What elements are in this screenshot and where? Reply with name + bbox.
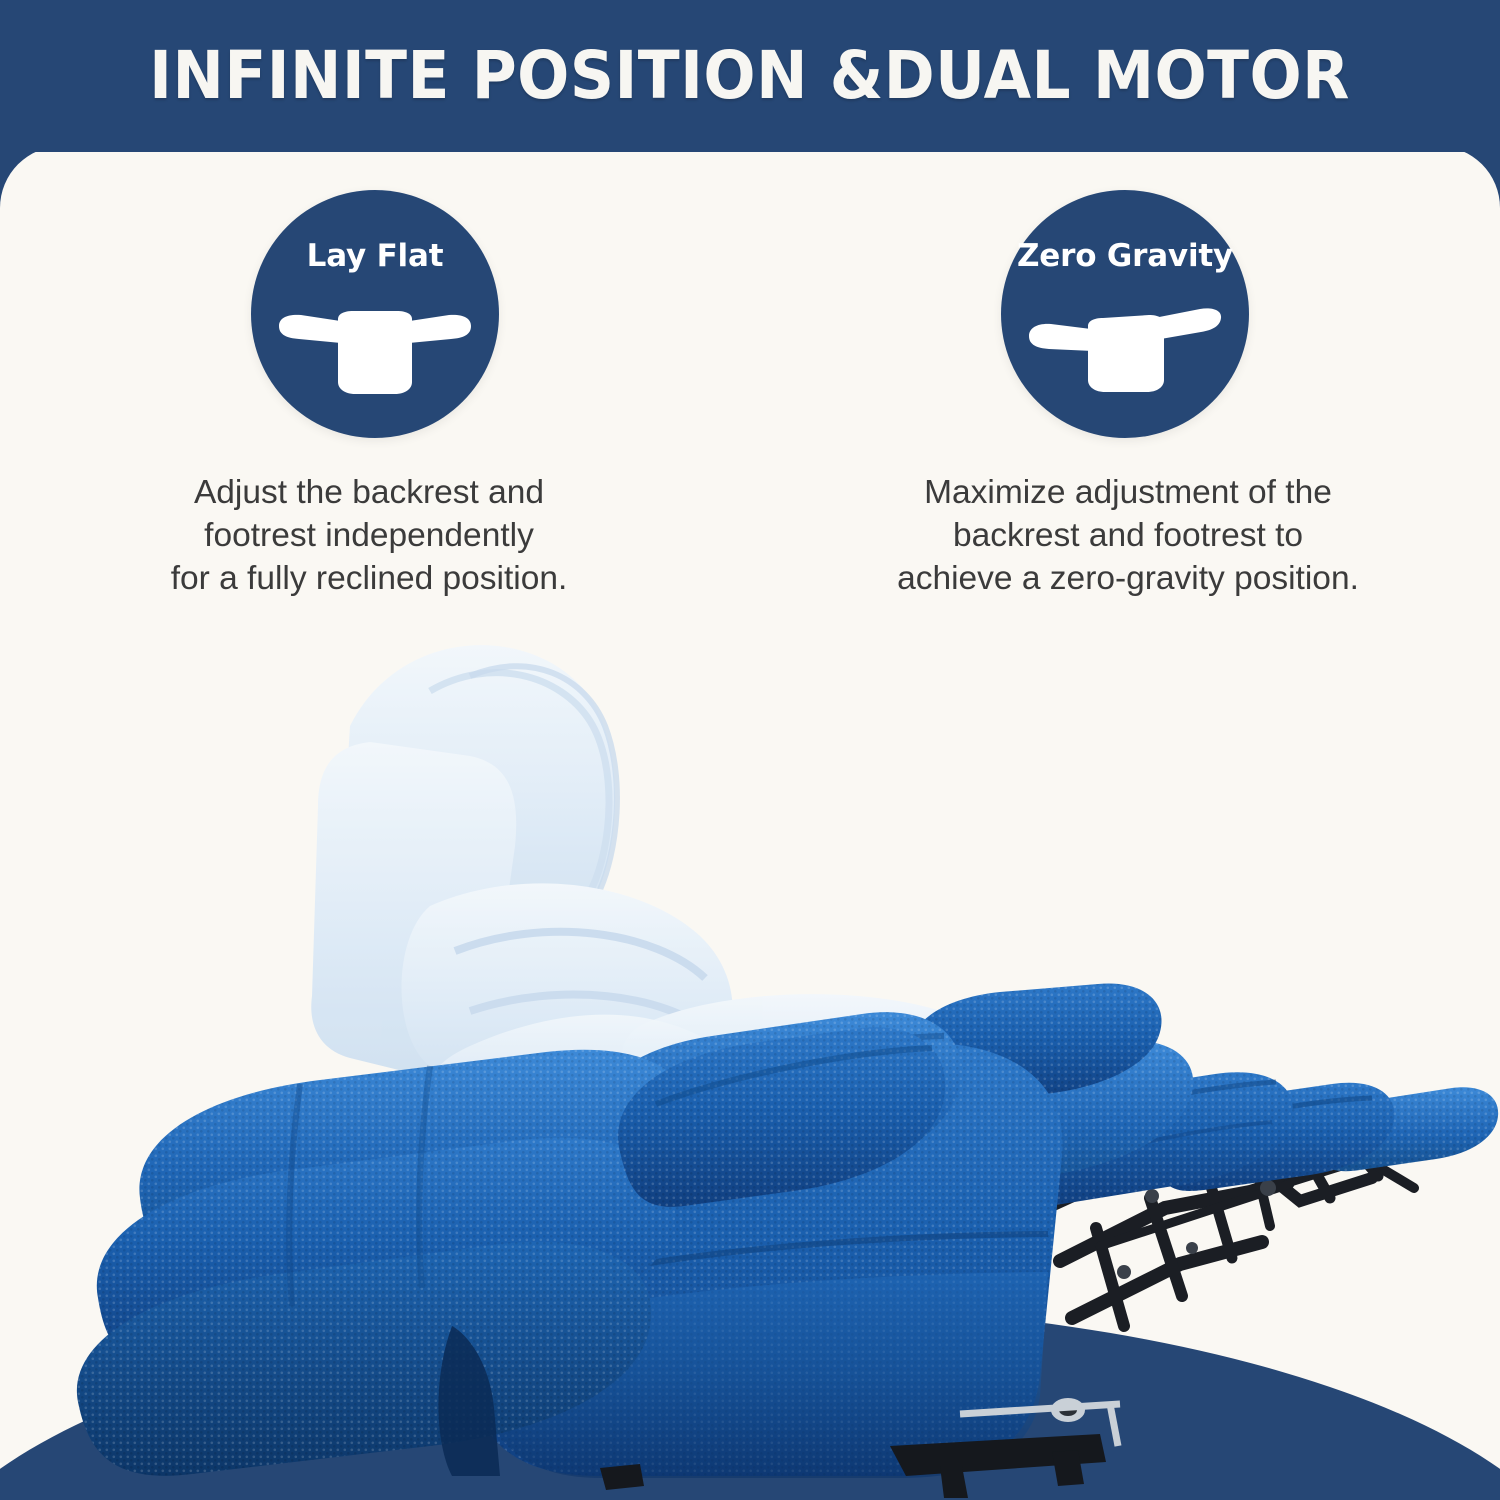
feature-description-zero-gravity: Maximize adjustment of the backrest and …	[897, 472, 1359, 601]
floor-ellipse-backdrop	[0, 1304, 1500, 1500]
content-card: Lay Flat Adjust the backrest an	[0, 146, 1500, 1500]
badge-label-zero-gravity: Zero Gravity	[1001, 238, 1249, 274]
feature-row: Lay Flat Adjust the backrest an	[0, 146, 1500, 601]
feature-lay-flat: Lay Flat Adjust the backrest an	[0, 146, 750, 601]
feature-zero-gravity: Zero Gravity Maximize adjustmen	[750, 146, 1500, 601]
header-banner: INFINITE POSITION &DUAL MOTOR	[0, 0, 1500, 152]
recliner-zero-gravity-icon	[1025, 302, 1225, 412]
feature-description-lay-flat: Adjust the backrest and footrest indepen…	[171, 472, 568, 601]
badge-label-lay-flat: Lay Flat	[251, 238, 499, 274]
badge-zero-gravity: Zero Gravity	[1001, 190, 1249, 438]
badge-lay-flat: Lay Flat	[251, 190, 499, 438]
page-title: INFINITE POSITION &DUAL MOTOR	[150, 43, 1351, 109]
recliner-lay-flat-icon	[275, 302, 475, 412]
